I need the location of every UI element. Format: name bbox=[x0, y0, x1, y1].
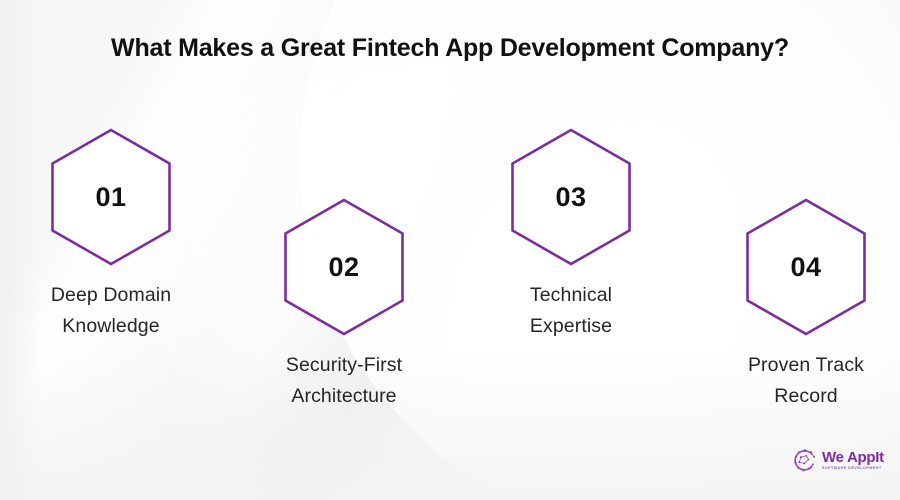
feature-label-4: Proven Track Record bbox=[706, 350, 900, 412]
infographic-canvas: What Makes a Great Fintech App Developme… bbox=[0, 0, 900, 500]
hexagon-number-3: 03 bbox=[510, 128, 632, 266]
feature-label-1: Deep Domain Knowledge bbox=[11, 280, 211, 342]
hexagon-badge-1: 01 bbox=[50, 128, 172, 266]
feature-card-2: 02 Security-First Architecture bbox=[244, 198, 444, 412]
hexagon-number-1: 01 bbox=[50, 128, 172, 266]
feature-card-4: 04 Proven Track Record bbox=[706, 198, 900, 412]
feature-card-1: 01 Deep Domain Knowledge bbox=[11, 128, 211, 342]
feature-label-4-line1: Proven Track bbox=[706, 350, 900, 381]
feature-label-1-line1: Deep Domain bbox=[11, 280, 211, 311]
hexagon-badge-2: 02 bbox=[283, 198, 405, 336]
feature-label-1-line2: Knowledge bbox=[11, 311, 211, 342]
feature-card-3: 03 Technical Expertise bbox=[471, 128, 671, 342]
hexagon-badge-4: 04 bbox=[745, 198, 867, 336]
feature-label-3-line1: Technical bbox=[471, 280, 671, 311]
page-title: What Makes a Great Fintech App Developme… bbox=[0, 30, 900, 66]
brand-wordmark: We AppIt SOFTWARE DEVELOPMENT bbox=[822, 450, 884, 471]
brand-name: We AppIt bbox=[822, 450, 884, 465]
hexagon-number-2: 02 bbox=[283, 198, 405, 336]
hexagon-badge-3: 03 bbox=[510, 128, 632, 266]
brand-logo: We AppIt SOFTWARE DEVELOPMENT bbox=[791, 446, 884, 474]
feature-label-3-line2: Expertise bbox=[471, 311, 671, 342]
brand-tagline: SOFTWARE DEVELOPMENT bbox=[822, 467, 882, 471]
feature-label-2: Security-First Architecture bbox=[244, 350, 444, 412]
feature-label-2-line2: Architecture bbox=[244, 381, 444, 412]
feature-label-2-line1: Security-First bbox=[244, 350, 444, 381]
hexagon-number-4: 04 bbox=[745, 198, 867, 336]
feature-label-4-line2: Record bbox=[706, 381, 900, 412]
globe-network-icon bbox=[791, 446, 819, 474]
feature-label-3: Technical Expertise bbox=[471, 280, 671, 342]
